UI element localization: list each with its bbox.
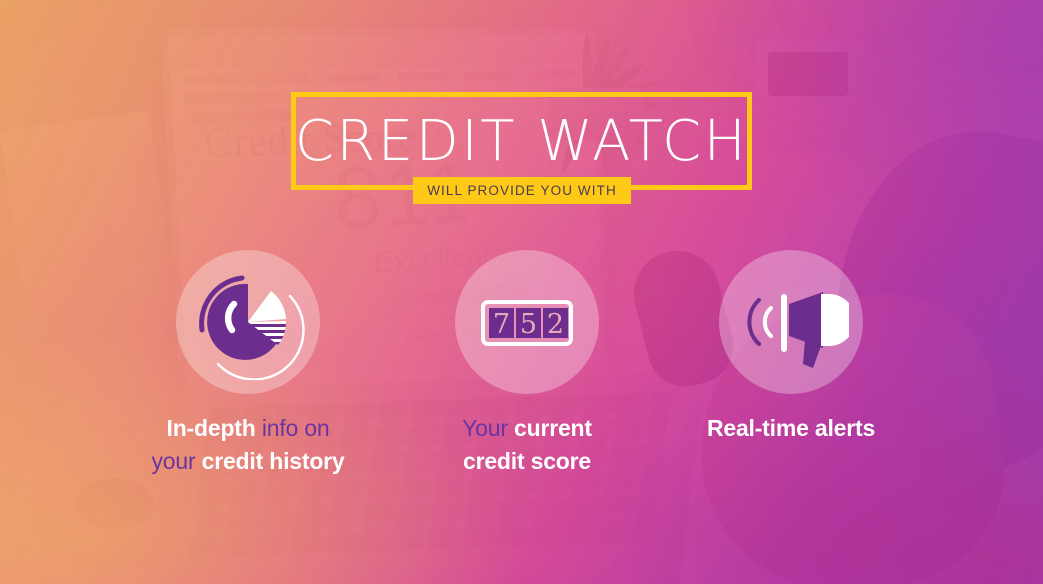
feature-item-credit-score: 7 5 2 Your current credit score — [377, 250, 677, 478]
pie-chart-icon — [190, 264, 306, 380]
caption-line2-soft: your — [151, 448, 201, 474]
caption-line1-bold: current — [514, 415, 592, 441]
caption-line1-bold: In-depth — [167, 415, 262, 441]
feature-caption: Your current credit score — [377, 412, 677, 478]
icon-circle-background — [719, 250, 863, 394]
caption-line1-soft: info on — [262, 415, 330, 441]
subtitle-banner: WILL PROVIDE YOU WITH — [413, 177, 631, 204]
feature-caption: In-depth info on your credit history — [98, 412, 398, 478]
caption-line1-soft: Your — [462, 415, 514, 441]
icon-circle-background — [176, 250, 320, 394]
icon-circle-background: 7 5 2 — [455, 250, 599, 394]
feature-item-credit-history: In-depth info on your credit history — [98, 250, 398, 478]
page-title: CREDIT WATCH — [291, 92, 752, 190]
caption-line1-bold: Real-time alerts — [707, 415, 875, 441]
score-digit-3: 2 — [547, 309, 564, 340]
promo-banner: Credit Score Your Credit Score Is 811 Ex… — [0, 0, 1043, 584]
credit-score-digits-icon: 7 5 2 — [469, 264, 585, 380]
caption-line2-bold: credit history — [202, 448, 345, 474]
score-digit-1: 7 — [493, 309, 510, 340]
caption-line2-bold: credit score — [463, 448, 591, 474]
megaphone-alert-icon — [733, 264, 849, 380]
feature-caption: Real-time alerts — [641, 412, 941, 445]
score-digit-2: 5 — [520, 309, 537, 340]
feature-item-alerts: Real-time alerts — [641, 250, 941, 445]
